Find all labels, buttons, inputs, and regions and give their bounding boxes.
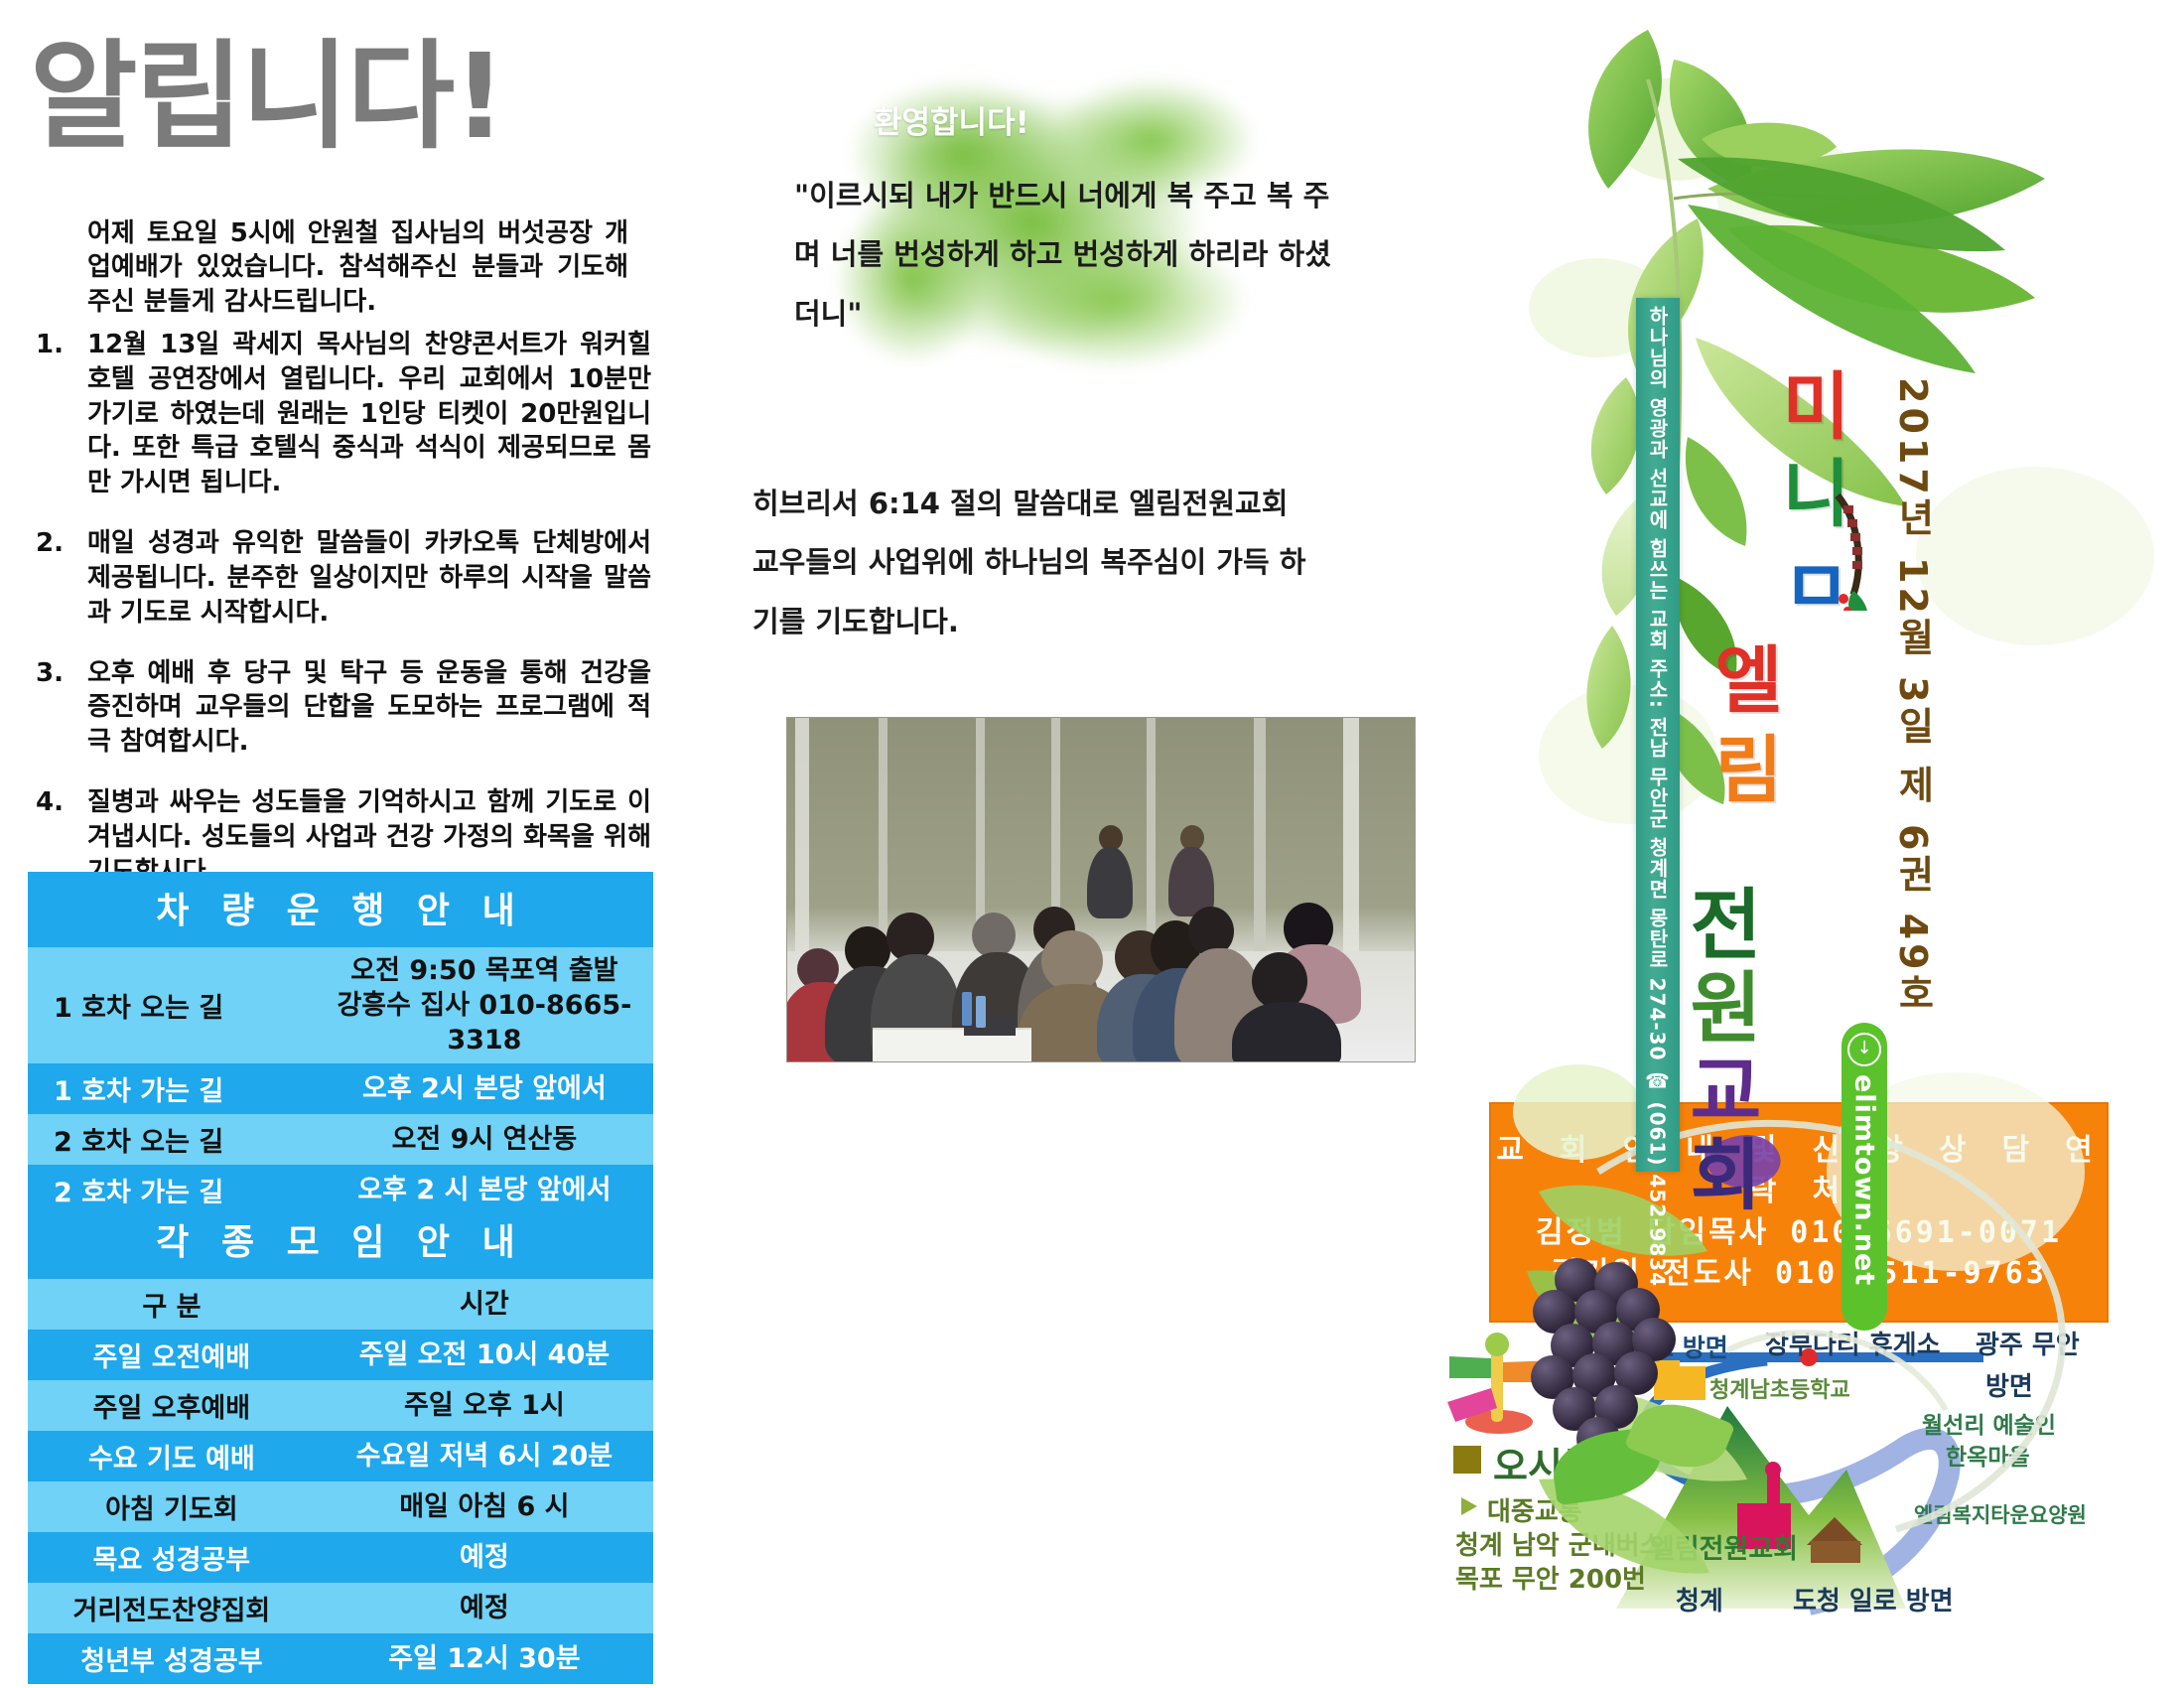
- left-column: 알립니다! 어제 토요일 5시에 안원철 집사님의 버섯공장 개업예배가 있었습…: [0, 0, 695, 1688]
- logo-syllable-mi: 미: [1773, 367, 1846, 441]
- table-cell-label: 1 호차 가는 길: [28, 1063, 316, 1114]
- photo-pillar: [1254, 718, 1266, 965]
- list-item-number: 3.: [36, 656, 87, 760]
- table-row: 목요 성경공부 예정: [28, 1532, 653, 1583]
- table-cell-label: 주일 오후예배: [28, 1380, 316, 1431]
- table-cell-label: 목요 성경공부: [28, 1532, 316, 1583]
- brush-syllable-2: 원: [1675, 967, 1765, 1051]
- train-icon: [1808, 492, 1877, 611]
- middle-column: 환영합니다! "이르시되 내가 반드시 너에게 복 주고 복 주며 너를 번성하…: [695, 0, 1489, 1688]
- green-watercolor-blob: 환영합니다! "이르시되 내가 반드시 너에게 복 주고 복 주며 너를 번성하…: [754, 20, 1370, 447]
- table-row: 주일 오후예배 주일 오후 1시: [28, 1380, 653, 1431]
- table-cell-value: 예정: [316, 1583, 653, 1633]
- church-address-strip: 하나님의 영광과 선교에 힘쓰는 교회 주소: 전남 무안군 청계면 몽탄로 2…: [1636, 298, 1680, 1172]
- table-row: 아침 기도회 매일 아침 6 시: [28, 1481, 653, 1532]
- website-badge[interactable]: ↓ elimtown.net: [1842, 1023, 1887, 1331]
- photo-person-body: [1087, 847, 1133, 918]
- list-item-number: 2.: [36, 526, 87, 630]
- table-cell-value: 오전 9:50 목포역 출발 강흥수 집사 010-8665-3318: [316, 947, 653, 1063]
- table-row: 거리전도찬양집회 예정: [28, 1583, 653, 1633]
- intro-paragraph: 어제 토요일 5시에 안원철 집사님의 버섯공장 개업예배가 있었습니다. 참석…: [87, 216, 628, 319]
- bible-verse: "이르시되 내가 반드시 너에게 복 주고 복 주며 너를 번성하게 하고 번성…: [794, 167, 1350, 344]
- column-header-value: 시간: [316, 1279, 653, 1330]
- website-url: elimtown.net: [1849, 1074, 1880, 1286]
- table-cell-value: 주일 오전 10시 40분: [316, 1330, 653, 1380]
- page-title: 알립니다!: [30, 38, 504, 155]
- table-cell-value: 주일 12시 30분: [316, 1633, 653, 1684]
- list-item: 3. 오후 예배 후 당구 및 탁구 등 운동을 통해 건강을 증진하며 교우들…: [36, 656, 651, 760]
- masthead-logo: 미 니 ㅁ 엘 림: [1688, 367, 1886, 923]
- table-cell-label: 1 호차 오는 길: [28, 947, 316, 1063]
- logo-syllable-el: 엘: [1706, 641, 1779, 715]
- table-row: 1 호차 오는 길 오전 9:50 목포역 출발 강흥수 집사 010-8665…: [28, 947, 653, 1063]
- table-cell-value: 수요일 저녁 6시 20분: [316, 1431, 653, 1481]
- photo-pillar: [879, 718, 887, 965]
- grape-cluster: [1529, 1256, 1757, 1504]
- meeting-schedule-table: 각 종 모 임 안 내 구 분 시간 주일 오전예배 주일 오전 10시 40분…: [28, 1203, 653, 1684]
- table-row: 청년부 성경공부 주일 12시 30분: [28, 1633, 653, 1684]
- verse-commentary: 히브리서 6:14 절의 말씀대로 엘림전원교회 교우들의 사업위에 하나님의 …: [752, 475, 1308, 651]
- list-item-text: 매일 성경과 유익한 말씀들이 카카오톡 단체방에서 제공됩니다. 분주한 일상…: [87, 526, 651, 630]
- photo-bottle: [976, 996, 986, 1028]
- brush-syllable-1: 전: [1675, 884, 1765, 967]
- list-item-number: 1.: [36, 328, 87, 500]
- photo-pillar: [1343, 718, 1359, 965]
- table-cell-value: 오후 2시 본당 앞에서: [316, 1063, 653, 1114]
- photo-pillar: [1147, 718, 1156, 965]
- photo-pillar: [795, 718, 809, 965]
- table-cell-label: 거리전도찬양집회: [28, 1583, 316, 1633]
- car-schedule-table: 차 량 운 행 안 내 1 호차 오는 길 오전 9:50 목포역 출발 강흥수…: [28, 872, 653, 1215]
- photo-bottle: [962, 992, 972, 1026]
- table-row: 2 호차 오는 길 오전 9시 연산동: [28, 1114, 653, 1165]
- brush-syllable-4: 회: [1675, 1134, 1765, 1217]
- church-address-text: 하나님의 영광과 선교에 힘쓰는 교회 주소: 전남 무안군 청계면 몽탄로 2…: [1644, 298, 1673, 1287]
- table-cell-label: 청년부 성경공부: [28, 1633, 316, 1684]
- list-item-text: 오후 예배 후 당구 및 탁구 등 운동을 통해 건강을 증진하며 교우들의 단…: [87, 656, 651, 760]
- table-row: 주일 오전예배 주일 오전 10시 40분: [28, 1330, 653, 1380]
- list-item: 2. 매일 성경과 유익한 말씀들이 카카오톡 단체방에서 제공됩니다. 분주한…: [36, 526, 651, 630]
- service-photo: [786, 717, 1416, 1062]
- table-header-row: 구 분 시간: [28, 1279, 653, 1330]
- meeting-schedule-title: 각 종 모 임 안 내: [28, 1203, 653, 1279]
- notice-list: 1. 12월 13일 곽세지 목사님의 찬양콘서트가 워커힐 호텔 공연장에서 …: [36, 328, 651, 915]
- masthead-brush-text: 전원교회: [1680, 884, 1759, 1217]
- table-cell-label: 주일 오전예배: [28, 1330, 316, 1380]
- table-row: 1 호차 가는 길 오후 2시 본당 앞에서: [28, 1063, 653, 1114]
- issue-date-line: 2017년 12월 3일 제 6권 49호: [1886, 377, 1941, 1016]
- table-cell-label: 2 호차 오는 길: [28, 1114, 316, 1165]
- list-item: 1. 12월 13일 곽세지 목사님의 찬양콘서트가 워커힐 호텔 공연장에서 …: [36, 328, 651, 500]
- brush-syllable-3: 교: [1675, 1051, 1765, 1134]
- table-cell-value: 매일 아침 6 시: [316, 1481, 653, 1532]
- column-header-label: 구 분: [28, 1279, 316, 1330]
- table-cell-label: 수요 기도 예배: [28, 1431, 316, 1481]
- photo-person-head: [1041, 930, 1103, 992]
- table-row: 수요 기도 예배 수요일 저녁 6시 20분: [28, 1431, 653, 1481]
- table-cell-value: 주일 오후 1시: [316, 1380, 653, 1431]
- table-cell-label: 아침 기도회: [28, 1481, 316, 1532]
- logo-syllable-lim: 림: [1706, 731, 1779, 804]
- welcome-heading: 환영합니다!: [874, 97, 1029, 142]
- bulletin-page: 알립니다! 어제 토요일 5시에 안원철 집사님의 버섯공장 개업예배가 있었습…: [0, 0, 2184, 1688]
- list-item-text: 12월 13일 곽세지 목사님의 찬양콘서트가 워커힐 호텔 공연장에서 열립니…: [87, 328, 651, 500]
- table-cell-value: 오전 9시 연산동: [316, 1114, 653, 1165]
- car-schedule-title: 차 량 운 행 안 내: [28, 872, 653, 947]
- table-cell-value: 예정: [316, 1532, 653, 1583]
- arrow-icon: ↓: [1847, 1033, 1881, 1066]
